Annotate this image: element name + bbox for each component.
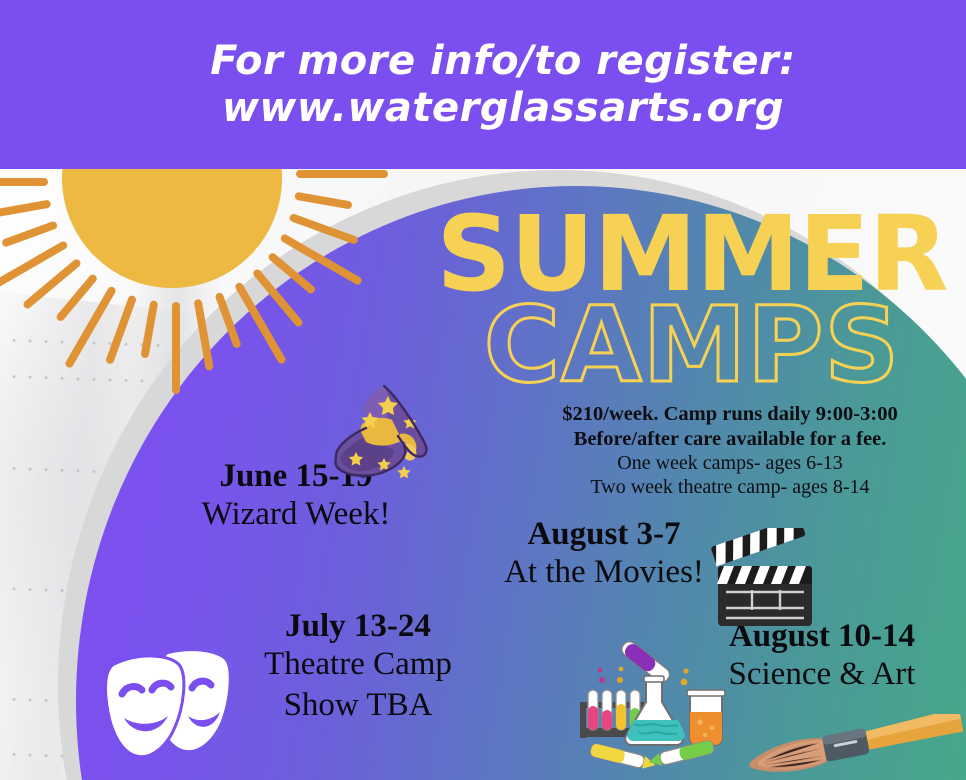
theatre-masks-icon [96,642,236,768]
sun-ray [0,178,48,186]
detail-price-hours: $210/week. Camp runs daily 9:00-3:00 [496,402,964,427]
session-name: At the Movies! [489,552,719,592]
session-name: Science & Art [706,654,938,694]
session-name: Wizard Week! [196,494,396,534]
camp-details: $210/week. Camp runs daily 9:00-3:00 Bef… [496,402,964,499]
paintbrush-icon [728,714,964,778]
sun-ray [172,302,180,394]
header-text-group: For more info/to register: www.waterglas… [0,0,966,169]
clapperboard-icon [706,528,818,632]
session-name-secondary: Show TBA [243,685,473,725]
header-register-line: For more info/to register: [170,39,795,84]
title-camps: CAMPS [430,297,954,394]
detail-one-week-ages: One week camps- ages 6-13 [496,451,964,475]
science-lab-icon [564,636,736,780]
summer-camps-flyer: For more info/to register: www.waterglas… [0,0,966,780]
session-date: July 13-24 [243,608,473,644]
detail-two-week-ages: Two week theatre camp- ages 8-14 [496,475,964,499]
sun-ray [296,170,388,178]
session-at-the-movies: August 3-7 At the Movies! [489,516,719,593]
session-name: Theatre Camp [243,644,473,684]
session-theatre-camp: July 13-24 Theatre Camp Show TBA [243,608,473,725]
header-website-line[interactable]: www.waterglassarts.org [182,86,784,131]
detail-care: Before/after care available for a fee. [496,427,964,452]
page-title: SUMMER CAMPS [430,206,954,393]
wizard-hat-icon [322,382,438,486]
session-date: August 3-7 [489,516,719,552]
